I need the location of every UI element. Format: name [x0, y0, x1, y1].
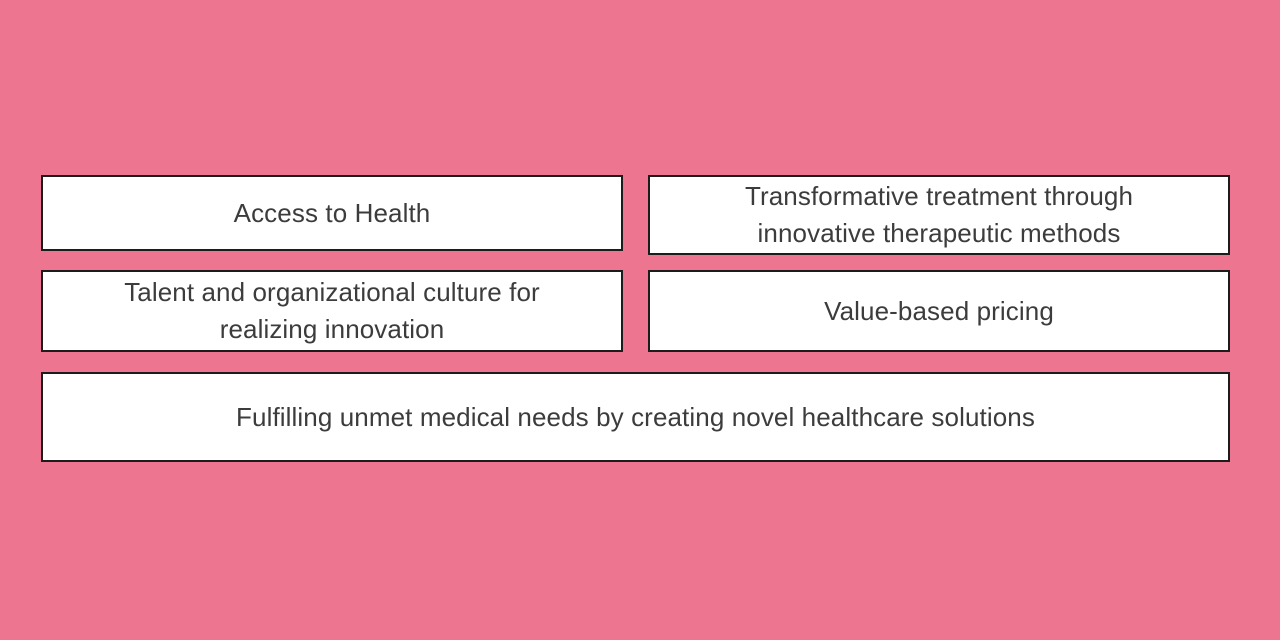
box-unmet-medical-needs-label: Fulfilling unmet medical needs by creati…	[53, 399, 1218, 436]
box-access-to-health-label: Access to Health	[53, 195, 611, 232]
box-talent-and-organizational-culture-label: Talent and organizational culture for re…	[53, 274, 611, 348]
box-value-based-pricing-label: Value-based pricing	[660, 293, 1218, 330]
box-unmet-medical-needs[interactable]: Fulfilling unmet medical needs by creati…	[41, 372, 1230, 462]
box-transformative-treatment-label: Transformative treatment through innovat…	[660, 178, 1218, 252]
box-access-to-health[interactable]: Access to Health	[41, 175, 623, 251]
box-transformative-treatment[interactable]: Transformative treatment through innovat…	[648, 175, 1230, 255]
box-value-based-pricing[interactable]: Value-based pricing	[648, 270, 1230, 352]
box-talent-and-organizational-culture[interactable]: Talent and organizational culture for re…	[41, 270, 623, 352]
diagram-canvas: Access to Health Transformative treatmen…	[0, 0, 1280, 640]
